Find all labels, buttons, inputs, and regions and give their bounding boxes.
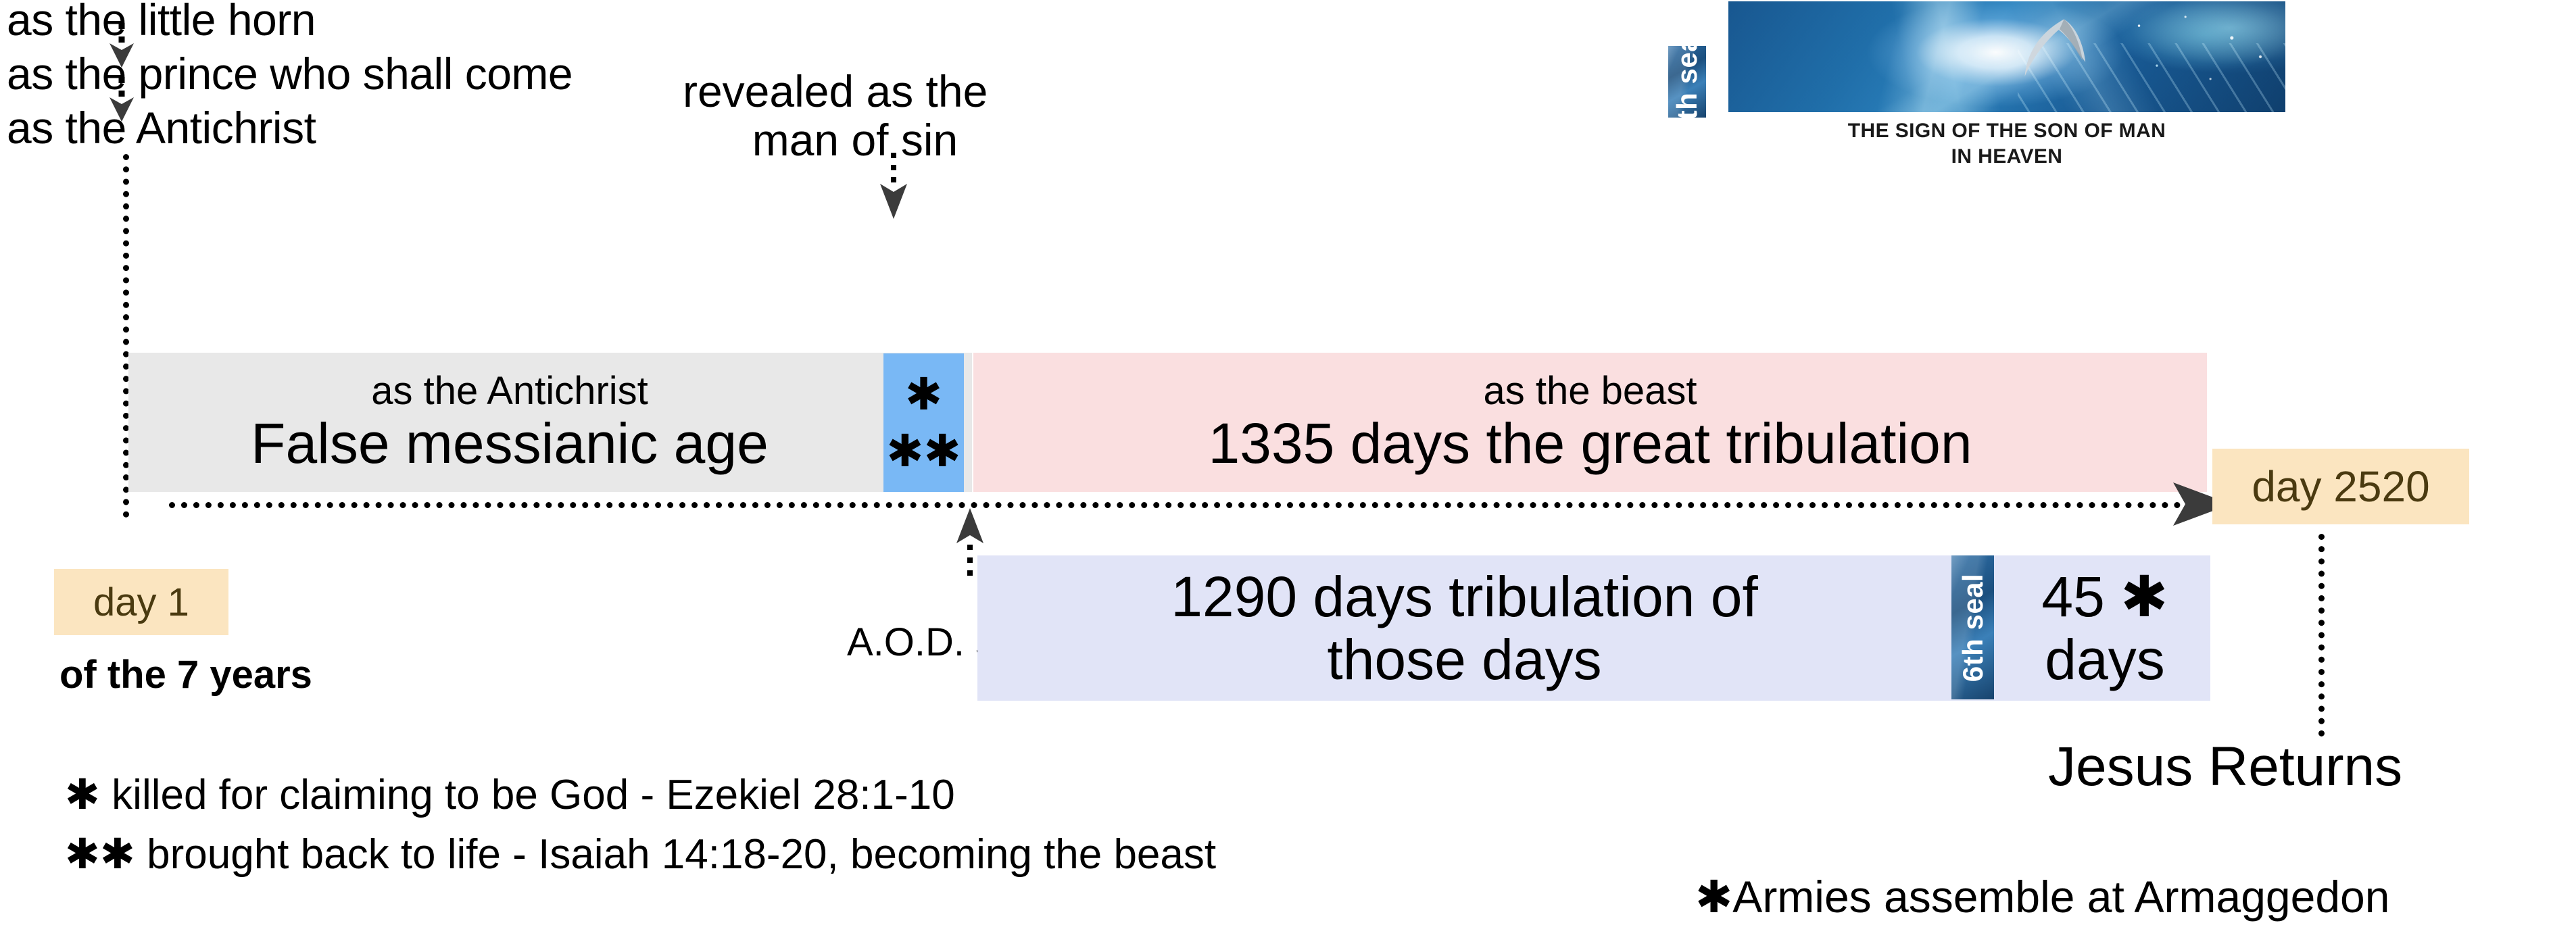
bar-1290-days-tribulation: 1290 days tribulation of those days 6th … <box>977 555 2210 701</box>
chip-day-1: day 1 <box>54 569 228 635</box>
chain-item-prince: as the prince who shall come <box>7 51 573 96</box>
prophecy-timeline-diagram: as the little horn as the prince who sha… <box>0 0 2576 946</box>
chip-day-2520: day 2520 <box>2212 449 2469 524</box>
bar-false-messianic-age: as the Antichrist False messianic age <box>128 353 972 492</box>
timeline-dotted-axis <box>169 502 2193 508</box>
hook-glyph-icon <box>2018 16 2107 78</box>
revealed-arrow-icon <box>873 153 914 219</box>
picture-caption-line1: THE SIGN OF THE SON OF MAN <box>1728 119 2285 144</box>
revealed-annotation-line2: man of sin <box>683 116 1027 164</box>
armies-assemble-note: ✱Armies assemble at Armaggedon <box>1695 874 2389 919</box>
bar-lav-mainlabel-line1: 1290 days tribulation of <box>1171 567 1758 626</box>
bar-lav-tail-line2: days <box>2045 630 2164 689</box>
marker-single-asterisk: ✱ <box>883 368 964 420</box>
bar-pink-mainlabel: 1335 days the great tribulation <box>1208 414 1972 473</box>
bar-death-resurrection-marker: ✱ ✱✱ <box>883 353 964 492</box>
day1-note: of the 7 years <box>59 655 312 695</box>
bar-lav-mainlabel-line2: those days <box>1327 630 1601 689</box>
marker-double-asterisk: ✱✱ <box>883 425 964 477</box>
seal-strip-lower: 6th seal <box>1951 555 1994 699</box>
end-vertical-dotted-line <box>2318 534 2325 737</box>
bar-lav-tail-line1: 45 ✱ <box>2041 567 2168 626</box>
bar-gray-mainlabel: False messianic age <box>251 414 769 473</box>
picture-caption-line2: IN HEAVEN <box>1728 145 2285 170</box>
chain-item-little-horn: as the little horn <box>7 0 316 42</box>
footnote-single-asterisk: ✱ killed for claiming to be God - Ezekie… <box>65 774 955 816</box>
seal-strip-lower-label: 6th seal <box>1957 573 1989 681</box>
jesus-returns-label: Jesus Returns <box>2048 739 2402 795</box>
chain-item-antichrist: as the Antichrist <box>7 105 316 150</box>
bar-gray-sublabel: as the Antichrist <box>371 371 648 412</box>
footnote-double-asterisk: ✱✱ brought back to life - Isaiah 14:18-2… <box>65 834 1216 876</box>
seal-strip-picture-label: 6th seal <box>1671 46 1703 118</box>
bar-pink-sublabel: as the beast <box>1484 371 1697 412</box>
revealed-annotation-line1: revealed as the <box>683 68 988 116</box>
bar-great-tribulation: as the beast 1335 days the great tribula… <box>973 353 2207 492</box>
sign-of-son-of-man-image <box>1728 1 2285 112</box>
seal-strip-picture: 6th seal <box>1668 46 1706 118</box>
